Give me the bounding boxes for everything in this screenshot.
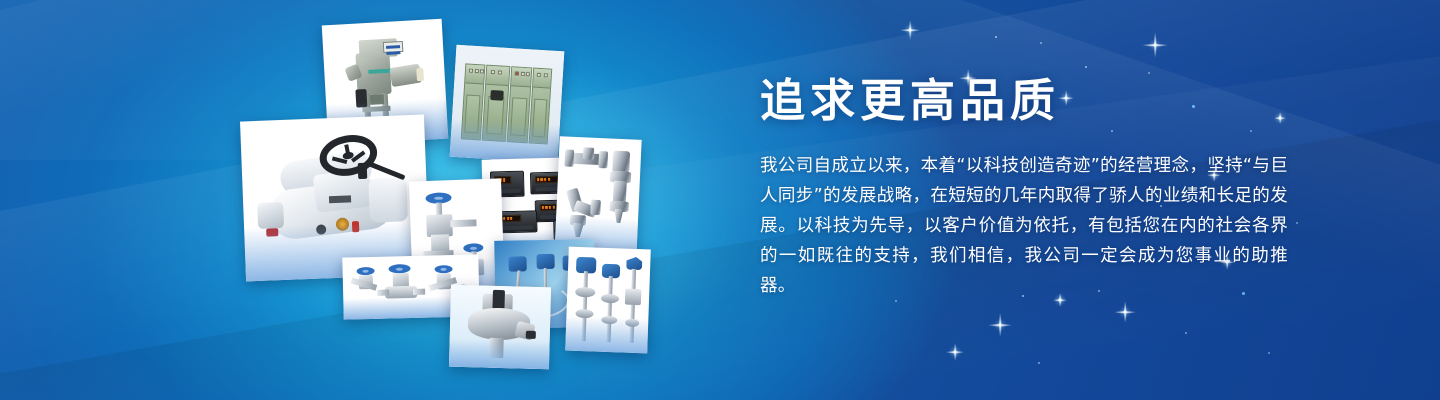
banner-headline: 追求更高品质 [760,78,1300,123]
product-card-magnetic-level-gauges [565,247,651,354]
sparkle-dot [1038,362,1040,364]
sparkle-dot [1085,66,1087,68]
card-shade [565,315,648,353]
sparkle-dot [1040,42,1042,44]
banner-paragraph: 我公司自成立以来，本着“以科技创造奇迹”的经营理念，坚持“与巨人同步”的发展战略… [760,151,1288,301]
product-card-switchgear-cabinet-lineup [450,45,565,163]
sparkle-dot [1185,332,1187,334]
product-card-pressure-regulator [449,285,551,370]
card-shade [450,119,560,164]
product-image-collage [195,0,715,400]
sparkle-dot [1148,72,1150,74]
sparkle-dot [1268,352,1270,354]
sparkle-dot [995,36,997,38]
promotional-banner: 追求更高品质 我公司自成立以来，本着“以科技创造奇迹”的经营理念，坚持“与巨人同… [0,0,1440,400]
banner-text-content: 追求更高品质 我公司自成立以来，本着“以科技创造奇迹”的经营理念，坚持“与巨人同… [760,78,1300,301]
card-shade [449,339,550,369]
